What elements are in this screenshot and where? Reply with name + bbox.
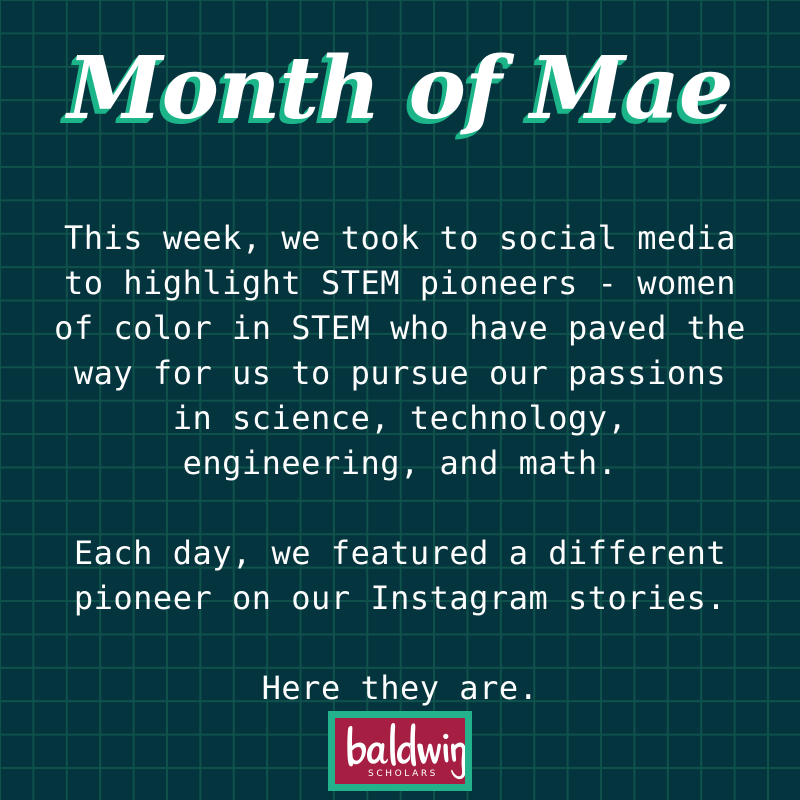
body-line: of color in STEM who have paved the: [20, 306, 780, 351]
logo-subtitle-text: SCHOLARS: [368, 769, 438, 779]
page-title: Month of Mae: [67, 46, 732, 132]
logo-container: SCHOLARS: [328, 711, 472, 791]
body-line: pioneer on our Instagram stories.: [20, 576, 780, 621]
body-line: Here they are.: [20, 666, 780, 711]
body-line: This week, we took to social media: [20, 216, 780, 261]
poster-canvas: Month of Mae This week, we took to socia…: [0, 0, 800, 800]
paragraph-intro: This week, we took to social media to hi…: [20, 216, 780, 486]
body-line: engineering, and math.: [20, 441, 780, 486]
paragraph-featured: Each day, we featured a different pionee…: [20, 531, 780, 621]
body-line: Each day, we featured a different: [20, 531, 780, 576]
baldwin-scholars-logo: SCHOLARS: [328, 711, 472, 791]
body-line: to highlight STEM pioneers - women: [20, 261, 780, 306]
body-line: way for us to pursue our passions: [20, 351, 780, 396]
body-copy: This week, we took to social media to hi…: [20, 216, 780, 711]
paragraph-closing: Here they are.: [20, 666, 780, 711]
baldwin-wordmark-icon: SCHOLARS: [335, 718, 465, 784]
poster-content: Month of Mae This week, we took to socia…: [0, 0, 800, 800]
body-line: in science, technology,: [20, 396, 780, 441]
